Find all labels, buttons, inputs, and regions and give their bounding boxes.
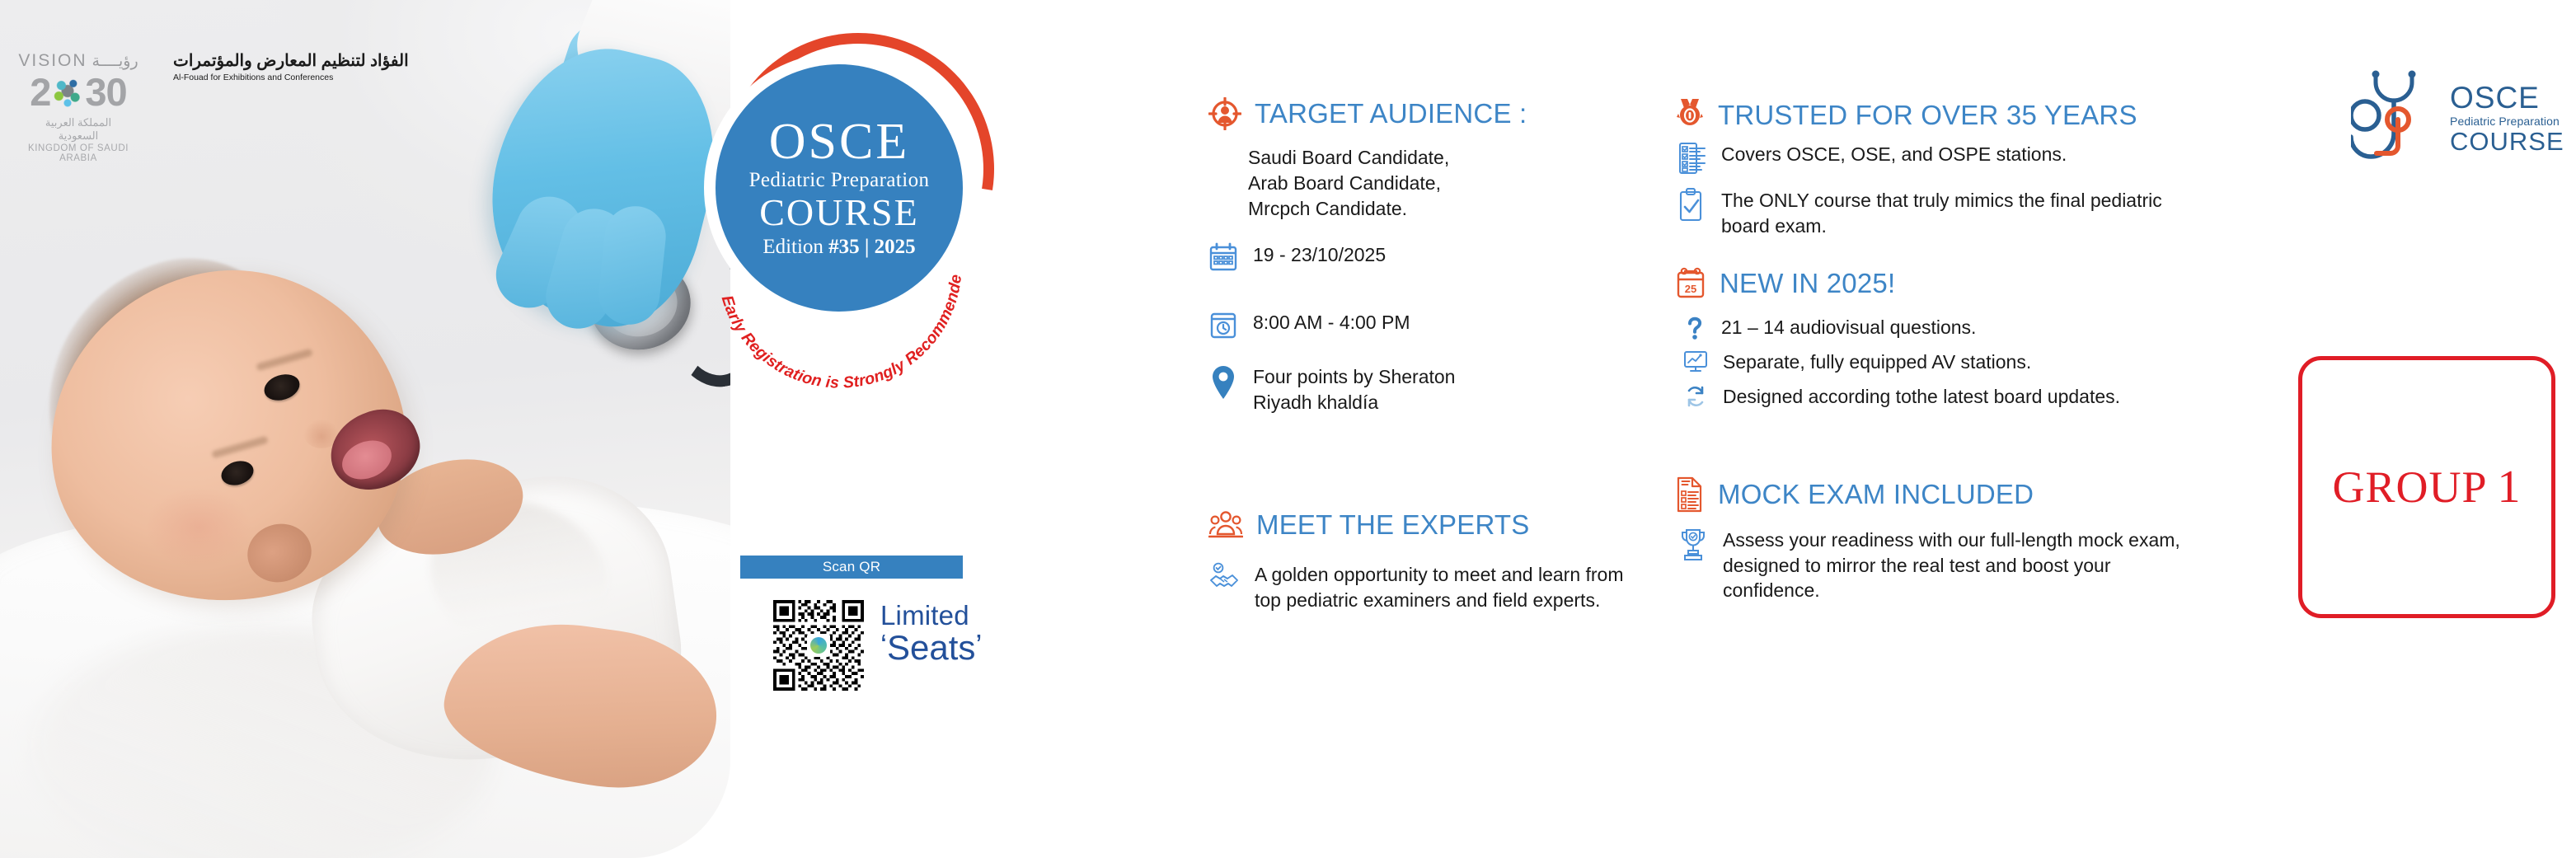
people-group-icon <box>1208 509 1243 541</box>
new-2025-item-row: Separate, fully equipped AV stations. <box>1683 349 2203 375</box>
baby-cheek <box>145 486 252 569</box>
alfouad-english-text: Al-Fouad for Exhibitions and Conferences <box>173 73 409 82</box>
calendar-25-icon: 25 <box>1675 267 1706 300</box>
vision-ar-text: رؤيــــة <box>92 52 138 71</box>
course-date-row: 19 - 23/10/2025 <box>1208 242 1386 272</box>
venue-text: Four points by Sheraton Riyadh khaldía <box>1253 364 1455 415</box>
badge-edition-value: #35 | 2025 <box>828 236 916 258</box>
osce-logo-course: COURSE <box>2450 129 2564 154</box>
group-number: 1 <box>2498 461 2522 513</box>
trusted-item-text: Covers OSCE, OSE, and OSPE stations. <box>1721 142 2067 167</box>
alfouad-logo: الفؤاد لتنظيم المعارض والمؤتمرات Al-Foua… <box>162 38 335 97</box>
badge-edition: Edition #35 | 2025 <box>762 236 915 259</box>
new-2025-heading-row: 25 NEW IN 2025! <box>1675 267 1895 300</box>
scan-qr-bar[interactable]: Scan QR <box>740 556 963 579</box>
checklist-icon <box>1678 142 1706 175</box>
trophy-check-icon <box>1678 527 1708 562</box>
group-badge: GROUP 1 <box>2298 356 2555 618</box>
vision-en-text: VISION <box>18 51 87 71</box>
new-2025-item-text: Separate, fully equipped AV stations. <box>1723 349 2031 375</box>
target-audience-heading-row: TARGET AUDIENCE : <box>1208 97 1527 130</box>
new-2025-item-text: Designed according tothe latest board up… <box>1723 384 2120 410</box>
osce-course-logo: OSCE Pediatric Preparation COURSE <box>2351 68 2557 175</box>
new-2025-item-row: 21 – 14 audiovisual questions. <box>1683 315 2203 341</box>
alfouad-wordmark: الفؤاد لتنظيم المعارض والمؤتمرات Al-Foua… <box>173 53 409 82</box>
new-2025-item-row: Designed according tothe latest board up… <box>1683 384 2203 410</box>
clipboard-check-icon <box>1678 188 1706 223</box>
audience-line-1: Saudi Board Candidate, <box>1248 145 1449 171</box>
map-pin-icon <box>1208 364 1238 402</box>
badge-subtitle: Pediatric Preparation <box>749 169 930 192</box>
monitor-chart-icon <box>1683 349 1708 374</box>
vision-palm-emblem-icon <box>52 77 83 108</box>
mock-exam-body-row: Assess your readiness with our full-leng… <box>1678 527 2206 603</box>
mock-exam-heading-row: MOCK EXAM INCLUDED <box>1675 476 2034 513</box>
badge-title: OSCE <box>769 117 909 167</box>
meet-experts-body: A golden opportunity to meet and learn f… <box>1255 562 1645 612</box>
seats-word: ‘Seats’ <box>880 628 1037 668</box>
course-time: 8:00 AM - 4:00 PM <box>1253 310 1410 335</box>
svg-text:25: 25 <box>1685 283 1696 295</box>
venue-line-1: Four points by Sheraton <box>1253 366 1455 387</box>
course-time-row: 8:00 AM - 4:00 PM <box>1208 310 1410 340</box>
vision-digit-30: 30 <box>85 69 126 115</box>
osce-logo-words: OSCE Pediatric Preparation COURSE <box>2450 82 2564 154</box>
venue-line-2: Riyadh khaldía <box>1253 391 1378 413</box>
meet-experts-heading: MEET THE EXPERTS <box>1256 509 1529 541</box>
osce-logo-title: OSCE <box>2450 82 2564 113</box>
clock-icon <box>1208 310 1238 340</box>
document-checklist-icon <box>1675 476 1705 513</box>
vision-kingdom-ar: المملكة العربية السعودية <box>25 116 132 143</box>
meet-experts-heading-row: MEET THE EXPERTS <box>1208 509 1529 541</box>
qr-code[interactable] <box>773 600 864 691</box>
trusted-item-row: Covers OSCE, OSE, and OSPE stations. <box>1678 142 2206 175</box>
vision-digit-2: 2 <box>30 69 50 115</box>
venue-row: Four points by Sheraton Riyadh khaldía <box>1208 364 1455 415</box>
vision-wordmark: VISION رؤيــــة <box>25 51 132 71</box>
refresh-cycle-icon <box>1683 384 1708 409</box>
limited-word: Limited <box>880 600 1037 631</box>
trusted-heading: TRUSTED FOR OVER 35 YEARS <box>1718 100 2137 131</box>
target-audience-list: Saudi Board Candidate, Arab Board Candid… <box>1248 145 1449 221</box>
mock-exam-heading: MOCK EXAM INCLUDED <box>1718 479 2034 510</box>
medal-icon <box>1675 97 1705 134</box>
qr-center-emblem-icon <box>807 634 830 657</box>
target-audience-heading: TARGET AUDIENCE : <box>1255 98 1527 129</box>
alfouad-arabic-text: الفؤاد لتنظيم المعارض والمؤتمرات <box>173 53 409 69</box>
osce-badge-circle: OSCE Pediatric Preparation COURSE Editio… <box>716 64 963 312</box>
osce-logo-subtitle: Pediatric Preparation <box>2450 115 2564 128</box>
alfouad-grid-icon <box>162 45 165 91</box>
course-date: 19 - 23/10/2025 <box>1253 242 1386 268</box>
badge-course: COURSE <box>759 194 918 232</box>
stethoscope-baby-icon <box>2351 68 2448 168</box>
mock-exam-body: Assess your readiness with our full-leng… <box>1723 527 2206 603</box>
group-label: GROUP <box>2332 462 2487 513</box>
trusted-heading-row: TRUSTED FOR OVER 35 YEARS <box>1675 97 2137 134</box>
question-mark-icon <box>1683 315 1706 341</box>
calendar-icon <box>1208 242 1238 272</box>
target-person-icon <box>1208 97 1241 130</box>
audience-line-3: Mrcpch Candidate. <box>1248 196 1449 222</box>
trusted-item-text: The ONLY course that truly mimics the fi… <box>1721 188 2206 238</box>
limited-seats-text: Limited ‘Seats’ <box>880 600 1037 668</box>
vision-2030-logo: VISION رؤيــــة 2 30 المملكة العربية الس… <box>25 51 132 148</box>
badge-edition-label: Edition <box>762 236 823 258</box>
handshake-check-icon <box>1208 562 1240 593</box>
center-badge-block: OSCE Pediatric Preparation COURSE Editio… <box>725 0 1039 858</box>
meet-experts-body-row: A golden opportunity to meet and learn f… <box>1208 562 1645 612</box>
new-2025-heading: NEW IN 2025! <box>1720 268 1895 299</box>
audience-line-2: Arab Board Candidate, <box>1248 171 1449 196</box>
trusted-item-row: The ONLY course that truly mimics the fi… <box>1678 188 2206 238</box>
new-2025-item-text: 21 – 14 audiovisual questions. <box>1721 315 1976 340</box>
vision-kingdom-en: KINGDOM OF SAUDI ARABIA <box>25 143 132 163</box>
vision-number: 2 30 <box>25 69 132 115</box>
